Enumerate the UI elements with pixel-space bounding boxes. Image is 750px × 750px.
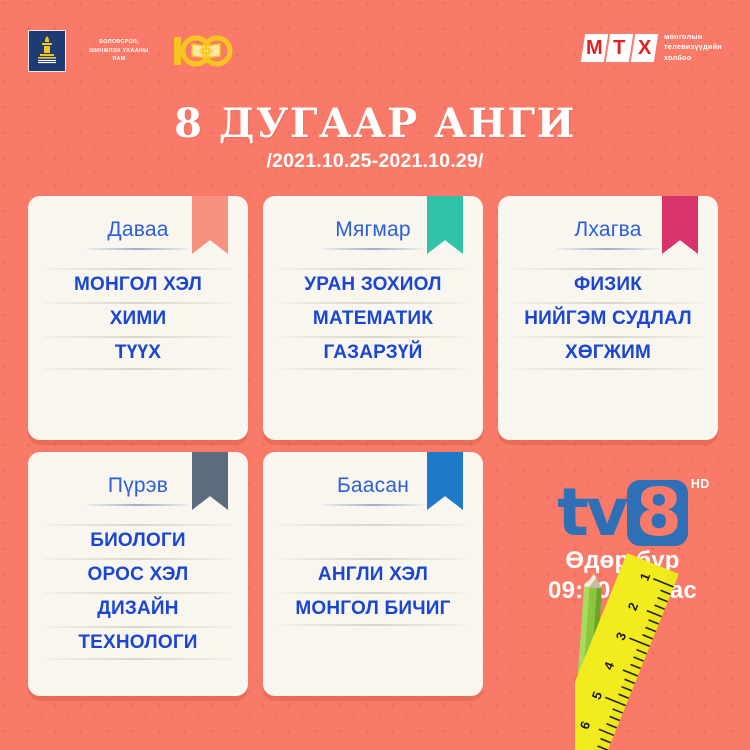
schedule-time: 09:30 цагаас [510, 576, 735, 605]
subject-row: ХӨГЖИМ [510, 336, 706, 370]
ministry-logo-group: БОЛОВСРОЛ, ШИНЖЛЭХ УХААНЫ ЯАМ [28, 30, 234, 72]
broadcaster-name: монголын телевизүүдийн холбоо [664, 32, 722, 63]
subject-row-empty: . [275, 524, 471, 558]
schedule-card-inner: МягмарУРАН ЗОХИОЛМАТЕМАТИКГАЗАРЗҮЙ [263, 196, 483, 440]
title-block: 8 ДУГААР АНГИ /2021.10.25-2021.10.29/ [0, 104, 750, 173]
broadcaster-name-line2: телевизүүдийн [664, 42, 722, 52]
mtx-letter-x: X [631, 34, 658, 62]
schedule-card-inner: ДавааМОНГОЛ ХЭЛХИМИТҮҮХ [28, 196, 248, 440]
schedule-card: Баасан.АНГЛИ ХЭЛМОНГОЛ БИЧИГ [263, 452, 483, 696]
day-name: Мягмар [331, 218, 415, 248]
subject-row: ДИЗАЙН [40, 592, 236, 626]
broadcaster-name-line1: монголын [664, 32, 722, 42]
subject-row: ТЕХНОЛОГИ [40, 626, 236, 660]
ruler-mark-label: 6 [577, 719, 594, 731]
subject-name: ГАЗАРЗҮЙ [323, 342, 422, 364]
subject-row: ТҮҮХ [40, 336, 236, 370]
day-underline [556, 248, 660, 250]
ministry-name-line2: ШИНЖЛЭХ УХААНЫ [76, 47, 162, 55]
broadcaster-name-line3: холбоо [664, 53, 722, 63]
broadcaster-logo-group: M T X монголын телевизүүдийн холбоо [583, 32, 722, 63]
schedule-card-inner: ЛхагваФИЗИКНИЙГЭМ СУДЛАЛХӨГЖИМ [498, 196, 718, 440]
day-underline [321, 248, 425, 250]
subject-list: УРАН ЗОХИОЛМАТЕМАТИКГАЗАРЗҮЙ [263, 268, 483, 386]
ruler-mark-label: 4 [601, 659, 618, 672]
subject-list: БИОЛОГИОРОС ХЭЛДИЗАЙНТЕХНОЛОГИ [28, 524, 248, 676]
subject-name: БИОЛОГИ [90, 530, 186, 552]
schedule-card: ДавааМОНГОЛ ХЭЛХИМИТҮҮХ [28, 196, 248, 440]
subject-name: МАТЕМАТИК [313, 308, 433, 330]
subject-name: ХӨГЖИМ [565, 342, 651, 364]
mongolia-soyombo-emblem-icon [28, 30, 66, 72]
day-name: Баасан [333, 474, 413, 504]
day-underline [86, 504, 190, 506]
schedule-card-inner: ПүрэвБИОЛОГИОРОС ХЭЛДИЗАЙНТЕХНОЛОГИ [28, 452, 248, 696]
subject-name: ДИЗАЙН [97, 598, 178, 620]
tv8-logo: tv8 HD [557, 480, 688, 546]
date-range: /2021.10.25-2021.10.29/ [0, 150, 750, 173]
subject-name: ХИМИ [110, 308, 167, 330]
subject-name: ОРОС ХЭЛ [88, 564, 189, 586]
hundred-years-book-icon [172, 31, 234, 71]
schedule-card: ЛхагваФИЗИКНИЙГЭМ СУДЛАЛХӨГЖИМ [498, 196, 718, 440]
ministry-name-line3: ЯАМ [76, 55, 162, 63]
channel-block: tv8 HD Өдөр бүр 09:30 цагаас [510, 480, 735, 606]
ministry-name: БОЛОВСРОЛ, ШИНЖЛЭХ УХААНЫ ЯАМ [76, 38, 162, 63]
subject-name: МОНГОЛ БИЧИГ [295, 598, 450, 620]
subject-name: ТЕХНОЛОГИ [78, 632, 197, 654]
ruler-mark-label: 3 [613, 630, 630, 642]
schedule-card: ПүрэвБИОЛОГИОРОС ХЭЛДИЗАЙНТЕХНОЛОГИ [28, 452, 248, 696]
tv8-number: 8 [627, 480, 688, 546]
subject-name: ФИЗИК [574, 274, 642, 296]
subject-name: НИЙГЭМ СУДЛАЛ [524, 308, 692, 330]
page-title: 8 ДУГААР АНГИ [0, 104, 750, 144]
subject-name: УРАН ЗОХИОЛ [304, 274, 441, 296]
schedule-poster: БОЛОВСРОЛ, ШИНЖЛЭХ УХААНЫ ЯАМ M T X [0, 0, 750, 750]
subject-row: ХИМИ [40, 302, 236, 336]
schedule-card: МягмарУРАН ЗОХИОЛМАТЕМАТИКГАЗАРЗҮЙ [263, 196, 483, 440]
subject-name: МОНГОЛ ХЭЛ [74, 274, 202, 296]
subject-row: ФИЗИК [510, 268, 706, 302]
subject-row: НИЙГЭМ СУДЛАЛ [510, 302, 706, 336]
subject-row: УРАН ЗОХИОЛ [275, 268, 471, 302]
subject-list: МОНГОЛ ХЭЛХИМИТҮҮХ [28, 268, 248, 386]
ministry-name-line1: БОЛОВСРОЛ, [76, 38, 162, 46]
subject-row: ОРОС ХЭЛ [40, 558, 236, 592]
subject-row: МОНГОЛ БИЧИГ [275, 592, 471, 626]
subject-row: МОНГОЛ ХЭЛ [40, 268, 236, 302]
subject-row: АНГЛИ ХЭЛ [275, 558, 471, 592]
ruler-mark-label: 5 [589, 689, 606, 701]
day-name: Лхагва [570, 218, 645, 248]
subject-row: ГАЗАРЗҮЙ [275, 336, 471, 370]
mtx-letter-t: T [606, 34, 633, 62]
subject-name: ТҮҮХ [115, 342, 161, 364]
subject-row: МАТЕМАТИК [275, 302, 471, 336]
mtx-logo-icon: M T X [583, 34, 656, 62]
subject-list: .АНГЛИ ХЭЛМОНГОЛ БИЧИГ [263, 524, 483, 642]
subject-row: БИОЛОГИ [40, 524, 236, 558]
subject-list: ФИЗИКНИЙГЭМ СУДЛАЛХӨГЖИМ [498, 268, 718, 386]
hd-badge: HD [691, 478, 710, 491]
day-name: Даваа [103, 218, 172, 248]
subject-name: АНГЛИ ХЭЛ [318, 564, 428, 586]
day-name: Пүрэв [104, 474, 172, 504]
day-underline [86, 248, 190, 250]
schedule-card-inner: Баасан.АНГЛИ ХЭЛМОНГОЛ БИЧИГ [263, 452, 483, 696]
day-underline [321, 504, 425, 506]
mtx-letter-m: M [581, 34, 608, 62]
tv8-letters: tv [557, 474, 626, 551]
tv8-wordmark: tv8 [557, 474, 688, 551]
